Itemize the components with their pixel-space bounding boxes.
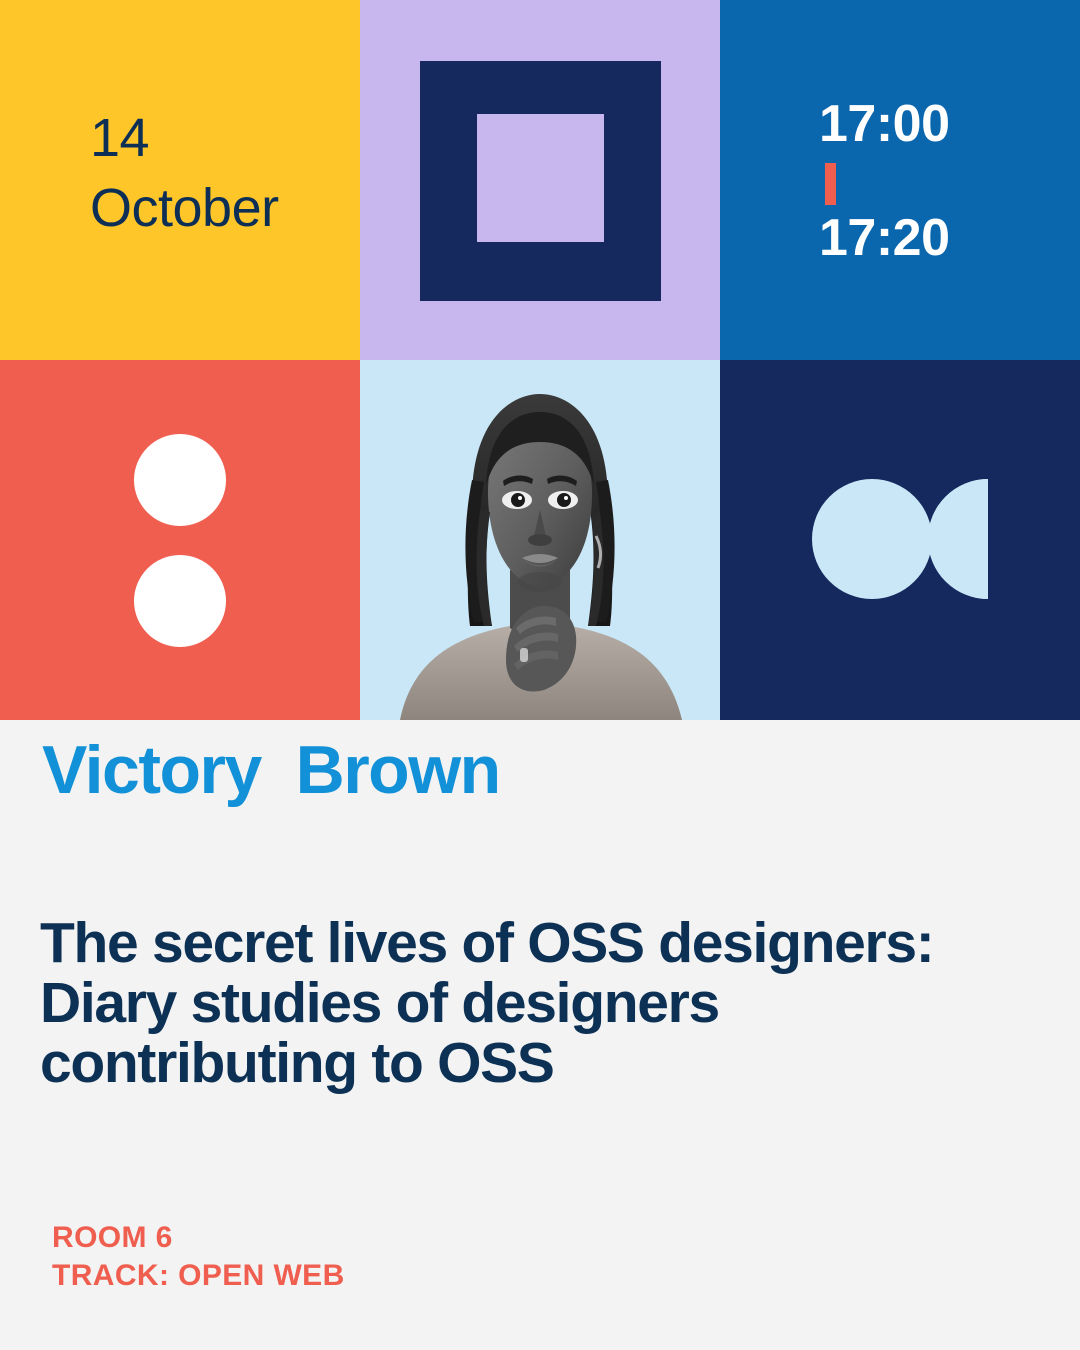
two-dots-icon-bottom bbox=[134, 555, 226, 647]
speaker-name: Victory Brown bbox=[42, 735, 500, 806]
two-dots-icon-top bbox=[134, 434, 226, 526]
square-decor-tile bbox=[360, 0, 720, 360]
vertical-bar-icon bbox=[825, 163, 836, 205]
mark-decor-tile bbox=[720, 360, 1080, 720]
square-outline-icon-hole bbox=[477, 114, 604, 242]
speaker-portrait bbox=[360, 360, 720, 720]
square-outline-icon bbox=[420, 61, 661, 301]
track-label: TRACK: OPEN WEB bbox=[52, 1257, 345, 1295]
tile-grid: 14 October 17:00 17:20 bbox=[0, 0, 1080, 720]
dots-decor-tile bbox=[0, 360, 360, 720]
time-end: 17:20 bbox=[819, 212, 950, 264]
date-tile: 14 October bbox=[0, 0, 360, 360]
event-date: 14 October bbox=[90, 103, 279, 243]
room-label: ROOM 6 bbox=[52, 1219, 345, 1257]
portrait-tile bbox=[360, 360, 720, 720]
session-meta: ROOM 6 TRACK: OPEN WEB bbox=[52, 1219, 345, 1295]
talk-title: The secret lives of OSS designers: Diary… bbox=[40, 913, 1030, 1093]
time-start: 17:00 bbox=[819, 98, 950, 150]
session-poster: 14 October 17:00 17:20 bbox=[0, 0, 1080, 1350]
circle-halfcircle-mark-icon bbox=[720, 360, 1080, 720]
time-tile: 17:00 17:20 bbox=[720, 0, 1080, 360]
